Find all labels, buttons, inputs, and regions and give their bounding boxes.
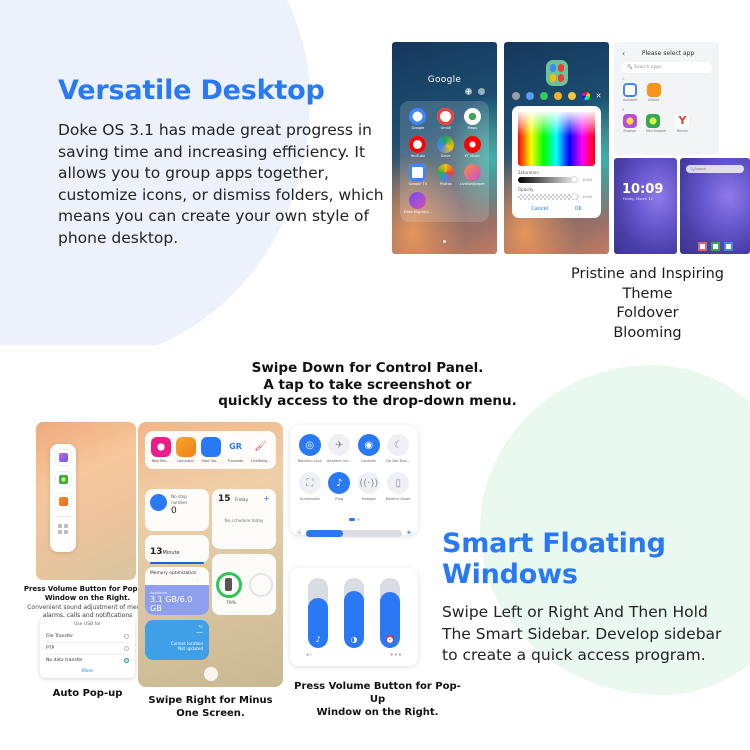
brightness-low-icon: ☼ bbox=[296, 529, 302, 537]
volume-panel: ♪ ◑ ⏰ ← ••• bbox=[290, 568, 418, 666]
phone-folder-screen: Google + Google Gmail Maps YouTube Drive… bbox=[392, 42, 497, 254]
section-title: Smart Floating Windows bbox=[442, 528, 732, 590]
folder-app[interactable]: Google TV bbox=[404, 164, 432, 187]
lock-date: Friday, March 12 bbox=[623, 197, 677, 201]
toggle-battery-saver[interactable]: ▯Battery Saver bbox=[385, 472, 413, 501]
widget-battery[interactable]: 79% bbox=[212, 554, 276, 615]
theme-caption: Pristine and Inspiring Theme Foldover Bl… bbox=[545, 265, 750, 343]
add-event-button[interactable]: + bbox=[263, 494, 270, 503]
sidebar-more-icon[interactable] bbox=[58, 524, 68, 534]
folder-preview-icon bbox=[546, 60, 568, 86]
page-indicator bbox=[296, 506, 412, 525]
color-gradient-field[interactable] bbox=[518, 112, 595, 166]
timer-progress bbox=[150, 562, 204, 564]
volume-panel-caption: Press Volume Button for Pop-Up Window on… bbox=[290, 680, 465, 719]
quick-app[interactable]: New Rec... bbox=[149, 437, 173, 463]
smart-floating-windows-body: Swipe Left or Right And Then Hold The Sm… bbox=[442, 602, 732, 667]
step-icon bbox=[150, 494, 167, 511]
auto-popup-caption: Auto Pop-up bbox=[30, 688, 145, 699]
usb-option-label: No data transfer bbox=[46, 658, 83, 663]
folder-app[interactable]: Drive bbox=[434, 136, 458, 159]
ok-button[interactable]: OK bbox=[575, 206, 582, 212]
battery-icon: ▯ bbox=[387, 472, 409, 494]
weather-status: Not updated bbox=[151, 646, 203, 651]
toggle-airplane-mode[interactable]: ✈Airplane mo... bbox=[326, 434, 354, 463]
mid-device-caption: Swipe Right for Minus One Screen. bbox=[138, 694, 283, 720]
weather-temp: — bbox=[151, 629, 203, 636]
widget-calendar[interactable]: 15 Friday + No schedule today bbox=[212, 489, 276, 549]
battery-ring-icon bbox=[216, 572, 242, 598]
brightness-slider[interactable] bbox=[306, 530, 401, 537]
timer-value: 13 bbox=[150, 547, 163, 557]
swatch-amber[interactable] bbox=[554, 92, 562, 100]
toggle-rotation-lock[interactable]: ◎Rotation Lock bbox=[296, 434, 324, 463]
search-input[interactable]: 🔍 Search apps bbox=[621, 62, 712, 73]
left-caption-bold: Press Volume Button for Pop-Up Window on… bbox=[20, 585, 155, 603]
quick-app[interactable]: 🖌LiveWallp... bbox=[249, 437, 273, 463]
color-swatch-row: ✕ bbox=[504, 92, 609, 100]
radio-button-selected[interactable] bbox=[124, 658, 129, 663]
folder-app-grid: Google Gmail Maps YouTube Drive YT Music… bbox=[400, 101, 489, 222]
home-indicator[interactable] bbox=[204, 667, 218, 681]
cancel-button[interactable]: Cancel bbox=[531, 206, 548, 212]
alarm-icon: ⏰ bbox=[380, 635, 400, 644]
phone-lock-screen: 10:09 Friday, March 12 bbox=[614, 158, 677, 254]
select-app-title: Please select app bbox=[625, 50, 711, 57]
location-icon: ◉ bbox=[358, 434, 380, 456]
page-title: Versatile Desktop bbox=[58, 75, 388, 106]
calendar-weekday: Friday bbox=[235, 498, 264, 503]
page-indicator bbox=[392, 228, 497, 247]
media-volume-slider[interactable]: ♪ bbox=[308, 578, 328, 648]
app-option[interactable]: Alfanet bbox=[647, 83, 661, 102]
bell-icon: ♪ bbox=[328, 472, 350, 494]
usb-option-row[interactable]: PTP bbox=[46, 643, 129, 655]
smart-sidebar[interactable] bbox=[50, 444, 76, 552]
add-icon[interactable]: + bbox=[465, 88, 472, 95]
usb-dialog: Use USB for File Transfer PTP No data tr… bbox=[40, 617, 135, 678]
saturation-slider[interactable] bbox=[518, 177, 579, 183]
search-input[interactable]: 🔍 Search bbox=[686, 165, 744, 173]
taskbar-icon-1[interactable] bbox=[698, 242, 707, 251]
usb-option-row[interactable]: File Transfer bbox=[46, 631, 129, 643]
usb-dialog-title: Use USB for bbox=[46, 622, 129, 627]
timer-unit: Minute bbox=[163, 550, 180, 556]
app-option[interactable]: Mini Browser bbox=[646, 114, 666, 133]
phone-home-screen: 🔍 Search bbox=[680, 158, 750, 254]
screenshot-icon: ⛶ bbox=[299, 472, 321, 494]
calendar-day: 15 bbox=[218, 494, 231, 504]
taskbar bbox=[680, 242, 750, 251]
app-option[interactable]: Assistant bbox=[623, 83, 638, 102]
moon-icon: ☾ bbox=[387, 434, 409, 456]
swatch-yellow[interactable] bbox=[568, 92, 576, 100]
saturation-label: Saturation bbox=[518, 170, 595, 175]
quick-app-row: New Rec... Calculator Start Sto... GRTra… bbox=[145, 431, 276, 469]
calendar-empty-state: No schedule today bbox=[218, 518, 270, 523]
brightness-high-icon: ☀ bbox=[406, 529, 412, 537]
swatch-gray[interactable] bbox=[512, 92, 520, 100]
widget-timer[interactable]: 13Minute bbox=[145, 535, 209, 563]
hotspot-icon: ((·)) bbox=[358, 472, 380, 494]
volume-slider-row: ♪ ◑ ⏰ bbox=[300, 576, 408, 648]
app-option[interactable]: Browser bbox=[623, 114, 637, 133]
versatile-desktop-block: Versatile Desktop Doke OS 3.1 has made g… bbox=[58, 75, 388, 249]
folder-app[interactable]: YT Music bbox=[460, 136, 485, 159]
folder-app[interactable]: Maps bbox=[460, 108, 485, 131]
memory-value: 3.1 GB/6.0 GB bbox=[150, 595, 204, 613]
phone-select-app-screen: ‹ Please select app 🔍 Search apps A Assi… bbox=[614, 42, 719, 155]
swatch-blue[interactable] bbox=[526, 92, 534, 100]
more-icon[interactable] bbox=[478, 88, 485, 95]
airplane-icon: ✈ bbox=[328, 434, 350, 456]
music-note-icon: ♪ bbox=[308, 635, 328, 644]
folder-app[interactable]: Google bbox=[404, 108, 432, 131]
ring-volume-slider[interactable]: ◑ bbox=[344, 578, 364, 648]
device-minus-one-screen: New Rec... Calculator Start Sto... GRTra… bbox=[138, 422, 283, 687]
memory-title: Memory optimization bbox=[145, 567, 209, 576]
toggle-screenshot[interactable]: ⛶Screenshot bbox=[296, 472, 324, 501]
alarm-volume-slider[interactable]: ⏰ bbox=[380, 578, 400, 648]
toggle-ring[interactable]: ♪Ring bbox=[326, 472, 354, 501]
quick-app[interactable]: Calculator bbox=[174, 437, 198, 463]
more-link[interactable]: More bbox=[46, 669, 129, 674]
phone-color-picker-screen: ✕ Saturation 100% Opacity 100% Cancel OK bbox=[504, 42, 609, 254]
usb-option-row[interactable]: No data transfer bbox=[46, 655, 129, 666]
device-sidebar-demo bbox=[36, 422, 136, 580]
folder-toolbar: + bbox=[392, 85, 497, 95]
taskbar-icon-3[interactable] bbox=[724, 242, 733, 251]
sidebar-app-orange-icon[interactable] bbox=[56, 494, 71, 509]
swatch-custom[interactable] bbox=[582, 92, 590, 100]
sidebar-divider bbox=[55, 516, 71, 517]
opacity-slider[interactable] bbox=[518, 194, 579, 200]
widget-step-counter[interactable]: No step number 0 bbox=[145, 489, 209, 531]
control-panel: ◎Rotation Lock ✈Airplane mo... ◉Location… bbox=[290, 425, 418, 535]
opacity-label: Opacity bbox=[518, 187, 595, 192]
toggle-location[interactable]: ◉Location bbox=[355, 434, 383, 463]
radio-button[interactable] bbox=[124, 634, 129, 639]
quick-app[interactable]: Start Sto... bbox=[199, 437, 223, 463]
toggle-hotspot[interactable]: ((·))Hotspot bbox=[355, 472, 383, 501]
saturation-value: 100% bbox=[582, 178, 595, 182]
close-icon[interactable]: ✕ bbox=[596, 92, 602, 100]
smart-floating-windows-block: Smart Floating Windows Swipe Left or Rig… bbox=[442, 528, 732, 667]
left-device-caption: Press Volume Button for Pop-Up Window on… bbox=[20, 585, 155, 620]
quick-app[interactable]: GRTranslate bbox=[224, 437, 248, 463]
folder-app[interactable]: Gmail bbox=[434, 108, 458, 131]
versatile-desktop-body: Doke OS 3.1 has made great progress in s… bbox=[58, 120, 388, 249]
folder-app[interactable]: YouTube bbox=[404, 136, 432, 159]
folder-title: Google bbox=[392, 75, 497, 85]
swatch-green[interactable] bbox=[540, 92, 548, 100]
back-icon[interactable]: ← bbox=[306, 651, 312, 659]
more-icon[interactable]: ••• bbox=[390, 651, 402, 659]
widget-memory[interactable]: Memory optimization Available 3.1 GB/6.0… bbox=[145, 567, 209, 615]
color-picker-dialog: Saturation 100% Opacity 100% Cancel OK bbox=[512, 106, 601, 218]
battery-secondary-ring-icon bbox=[249, 573, 273, 597]
radio-button[interactable] bbox=[124, 646, 129, 651]
sidebar-app-green-icon[interactable] bbox=[56, 472, 71, 487]
toggle-do-not-disturb[interactable]: ☾Do Not Dist... bbox=[385, 434, 413, 463]
rotation-lock-icon: ◎ bbox=[299, 434, 321, 456]
widget-weather[interactable]: °C — Current location Not updated bbox=[145, 620, 209, 660]
lock-clock: 10:09 bbox=[622, 182, 677, 197]
usb-option-label: File Transfer bbox=[46, 634, 73, 639]
brightness-row: ☼ ☀ bbox=[296, 529, 412, 537]
toggle-grid: ◎Rotation Lock ✈Airplane mo... ◉Location… bbox=[296, 434, 412, 501]
sidebar-app-purple-icon[interactable] bbox=[56, 450, 71, 465]
control-panel-caption: Swipe Down for Control Panel. A tap to t… bbox=[195, 360, 540, 410]
folder-app[interactable]: Photos bbox=[434, 164, 458, 187]
usb-option-label: PTP bbox=[46, 646, 54, 651]
folder-app[interactable]: Data Migratio... bbox=[404, 192, 432, 215]
taskbar-icon-2[interactable] bbox=[711, 242, 720, 251]
battery-percent: 79% bbox=[226, 601, 236, 606]
opacity-value: 100% bbox=[582, 195, 595, 199]
folder-app[interactable]: LiveWallpaper bbox=[460, 164, 485, 187]
bell-icon: ◑ bbox=[344, 635, 364, 644]
app-option[interactable]: YBanner bbox=[675, 114, 689, 133]
